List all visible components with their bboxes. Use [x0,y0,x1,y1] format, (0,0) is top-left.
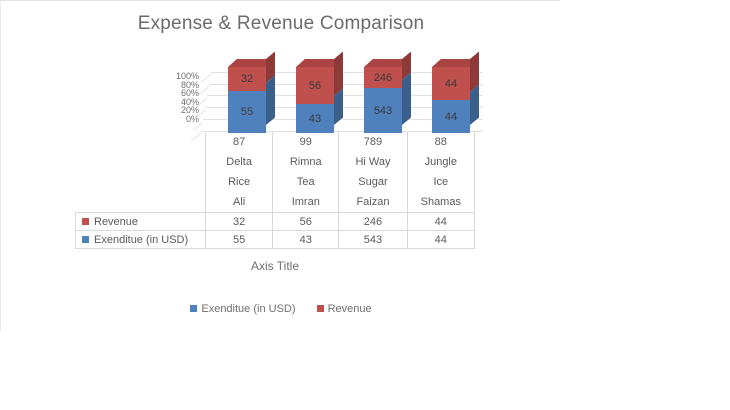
table-blank-cell-1 [76,132,206,152]
table-cell-cat3-line1: 789 [339,132,407,152]
bar-segment-revenue-4[interactable]: 44 [432,67,470,100]
bar-label-expenditure-1: 55 [228,106,266,118]
table-cell-cat1-line2: Delta [206,152,273,172]
table-row-expenditure: Exenditue (in USD) 55 43 543 44 [76,231,475,249]
table-blank-cell-4 [76,192,206,213]
legend-revenue-label: Revenue [328,303,372,315]
table-cell-revenue-1: 32 [206,213,273,231]
bar-column-2[interactable]: 56 43 [296,67,334,133]
legend-entry-revenue[interactable]: Revenue [317,303,372,315]
bar-label-expenditure-3: 543 [364,105,402,117]
table-legend-expenditure: Exenditue (in USD) [76,231,206,249]
bar-label-expenditure-4: 44 [432,111,470,123]
table-cell-revenue-3: 246 [339,213,407,231]
table-cell-cat3-line3: Sugar [339,172,407,192]
table-blank-cell-2 [76,152,206,172]
table-cell-cat4-line3: Ice [407,172,474,192]
table-legend-expenditure-label: Exenditue (in USD) [94,234,188,246]
bar-label-revenue-2: 56 [296,80,334,92]
legend-entry-expenditure[interactable]: Exenditue (in USD) [190,303,295,315]
table-cell-cat4-line4: Shamas [407,192,474,213]
table-row-category-2: Delta Rimna Hi Way Jungle [76,152,475,172]
table-cell-expenditure-4: 44 [407,231,474,249]
table-cell-revenue-2: 56 [273,213,339,231]
bar-side-expenditure-1 [266,75,275,125]
chart-canvas: Expense & Revenue Comparison 100% 80% 60… [0,0,560,332]
table-cell-cat1-line4: Ali [206,192,273,213]
table-cell-cat2-line2: Rimna [273,152,339,172]
bar-segment-revenue-2[interactable]: 56 [296,67,334,104]
bar-label-revenue-1: 32 [228,73,266,85]
bar-column-4[interactable]: 44 44 [432,67,470,133]
bar-column-3[interactable]: 246 543 [364,67,402,133]
chart-legend: Exenditue (in USD) Revenue [1,303,561,315]
table-cell-cat3-line4: Faizan [339,192,407,213]
table-row-category-3: Rice Tea Sugar Ice [76,172,475,192]
table-row-category-1: 87 99 789 88 [76,132,475,152]
legend-expenditure-label: Exenditue (in USD) [201,303,295,315]
bar-segment-expenditure-3[interactable]: 543 [364,88,402,133]
y-axis-tick-labels: 100% 80% 60% 40% 20% 0% [153,72,199,132]
chart-data-table: 87 99 789 88 Delta Rimna Hi Way Jungle R… [75,132,475,249]
plot-area: 100% 80% 60% 40% 20% 0% 32 [153,63,483,133]
table-cell-cat3-line2: Hi Way [339,152,407,172]
bar-segment-revenue-3[interactable]: 246 [364,67,402,88]
legend-revenue-swatch-icon [317,305,324,312]
legend-swatch-expenditure-icon [82,236,89,243]
table-cell-expenditure-3: 543 [339,231,407,249]
bar-segment-expenditure-4[interactable]: 44 [432,100,470,133]
table-cell-revenue-4: 44 [407,213,474,231]
bar-segment-expenditure-1[interactable]: 55 [228,91,266,133]
y-tick-0: 0% [153,115,199,124]
axis-title: Axis Title [75,259,475,273]
bar-segment-expenditure-2[interactable]: 43 [296,104,334,133]
bar-label-expenditure-2: 43 [296,113,334,125]
table-cell-cat2-line1: 99 [273,132,339,152]
legend-swatch-revenue-icon [82,218,89,225]
table-cell-expenditure-1: 55 [206,231,273,249]
bar-label-revenue-3: 246 [364,72,402,84]
chart-title: Expense & Revenue Comparison [1,13,561,35]
table-cell-cat2-line3: Tea [273,172,339,192]
depth-line-80 [199,86,210,95]
table-cell-cat2-line4: Imran [273,192,339,213]
bar-side-expenditure-3 [402,72,411,125]
table-cell-cat1-line3: Rice [206,172,273,192]
table-row-revenue: Revenue 32 56 246 44 [76,213,475,231]
table-cell-cat4-line1: 88 [407,132,474,152]
bar-column-1[interactable]: 32 55 [228,67,266,133]
table-blank-cell-3 [76,172,206,192]
table-row-category-4: Ali Imran Faizan Shamas [76,192,475,213]
table-cell-cat4-line2: Jungle [407,152,474,172]
bar-label-revenue-4: 44 [432,78,470,90]
depth-line-100 [201,74,212,83]
table-legend-revenue-label: Revenue [94,216,138,228]
legend-expenditure-swatch-icon [190,305,197,312]
table-cell-expenditure-2: 43 [273,231,339,249]
bar-segment-revenue-1[interactable]: 32 [228,67,266,91]
table-cell-cat1-line1: 87 [206,132,273,152]
table-legend-revenue: Revenue [76,213,206,231]
